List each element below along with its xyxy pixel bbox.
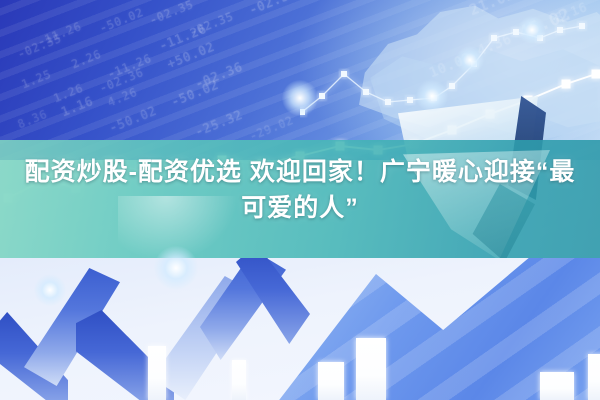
chart-node-marker — [449, 83, 455, 89]
stock-finance-banner: -02.3521.0245.02-02.35-50.02-02.35-11.26… — [0, 0, 600, 400]
chart-node-marker — [385, 99, 391, 105]
chart-node-marker — [491, 35, 497, 41]
banner-title-block: 配资炒股-配资优选 欢迎回家！广宁暖心迎接“最 可爱的人” — [0, 154, 600, 226]
chart-node-marker — [341, 71, 347, 77]
glow-dot — [518, 16, 546, 44]
chart-node-marker — [363, 89, 369, 95]
chart-node-marker — [579, 23, 585, 29]
glow-dot — [34, 274, 66, 306]
glow-dot — [456, 46, 484, 74]
banner-title-line-1: 配资炒股-配资优选 欢迎回家！广宁暖心迎接“最 — [0, 154, 600, 190]
chart-node-marker — [319, 93, 325, 99]
banner-title-line-2: 可爱的人” — [0, 190, 600, 226]
white-bar — [232, 360, 246, 400]
glow-dot — [282, 80, 318, 116]
chart-node-marker — [407, 97, 413, 103]
glow-dot — [154, 246, 198, 290]
white-bar — [588, 354, 600, 400]
white-bar — [540, 372, 574, 400]
white-bar — [318, 362, 344, 400]
glow-dot — [416, 80, 448, 112]
bottom-light-background — [0, 258, 600, 400]
white-bar — [356, 338, 386, 400]
chart-node-marker — [557, 27, 563, 33]
white-bar — [148, 346, 166, 400]
